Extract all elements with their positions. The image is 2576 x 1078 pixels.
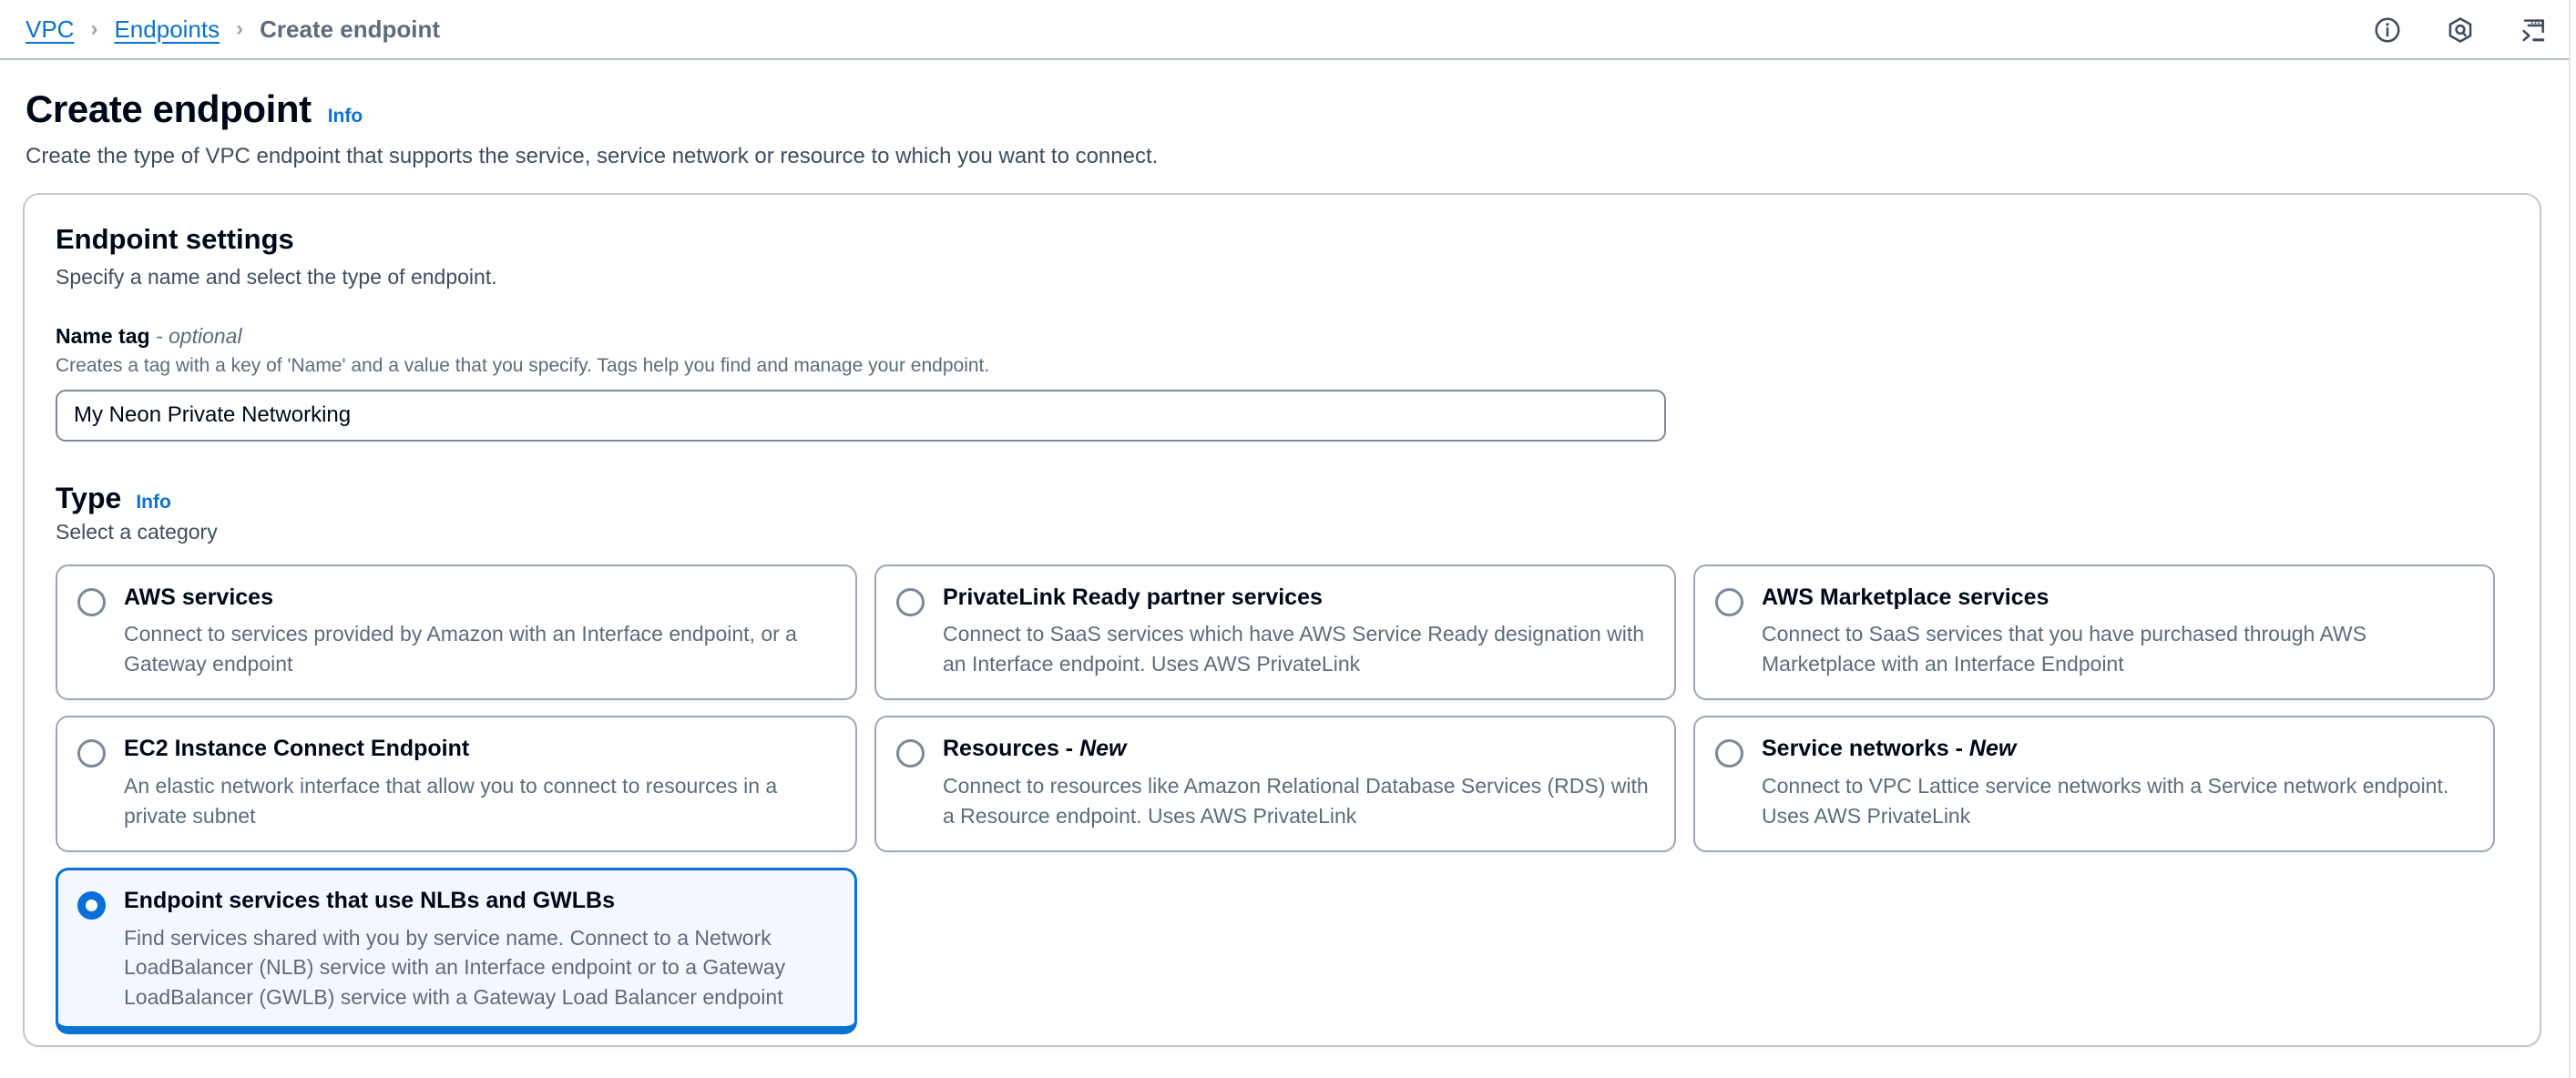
breadcrumb-item-vpc[interactable]: VPC (26, 15, 74, 44)
breadcrumb-item-create-endpoint: Create endpoint (260, 15, 440, 44)
section-description: Specify a name and select the type of en… (56, 265, 2509, 290)
name-tag-hint: Creates a tag with a key of 'Name' and a… (56, 355, 2509, 377)
card-body: Service networks - New Connect to VPC La… (1762, 736, 2473, 830)
card-description: Connect to services provided by Amazon w… (124, 619, 835, 678)
info-icon[interactable] (2372, 15, 2403, 46)
card-description: Connect to resources like Amazon Relatio… (943, 771, 1654, 830)
page-info-link[interactable]: Info (328, 106, 363, 127)
card-body: Endpoint services that use NLBs and GWLB… (124, 888, 835, 1012)
name-tag-label-text: Name tag (56, 324, 150, 348)
card-description: Connect to SaaS services that you have p… (1762, 619, 2473, 678)
card-title-text: Resources - (943, 736, 1079, 761)
cloudshell-icon[interactable] (2518, 15, 2549, 46)
breadcrumb-separator-icon: › (74, 16, 114, 42)
card-title-text: AWS services (124, 585, 273, 610)
card-title: Service networks - New (1762, 736, 2473, 763)
page-title: Create endpoint (26, 87, 312, 130)
radio-button-icon[interactable] (896, 588, 925, 616)
name-tag-input[interactable] (56, 390, 1666, 442)
page-description: Create the type of VPC endpoint that sup… (26, 142, 2550, 171)
type-option-service-networks[interactable]: Service networks - New Connect to VPC La… (1693, 716, 2495, 852)
type-option-grid: AWS services Connect to services provide… (56, 564, 2509, 1034)
aws-q-icon[interactable] (2445, 15, 2476, 46)
radio-button-icon[interactable] (77, 739, 106, 768)
top-navigation-bar: VPC › Endpoints › Create endpoint (0, 0, 2576, 60)
breadcrumb-item-endpoints[interactable]: Endpoints (114, 15, 220, 44)
radio-button-icon-selected[interactable] (77, 891, 106, 920)
topbar-icon-group (2372, 0, 2549, 60)
endpoint-settings-panel: Endpoint settings Specify a name and sel… (23, 193, 2541, 1047)
type-option-resources[interactable]: Resources - New Connect to resources lik… (874, 716, 1676, 852)
card-title-text: PrivateLink Ready partner services (943, 585, 1323, 610)
card-title: AWS services (124, 585, 835, 612)
type-description: Select a category (56, 520, 2509, 544)
card-title: EC2 Instance Connect Endpoint (124, 736, 835, 763)
card-body: AWS Marketplace services Connect to SaaS… (1762, 585, 2473, 679)
card-description: Find services shared with you by service… (124, 923, 835, 1012)
card-description: An elastic network interface that allow … (124, 771, 835, 830)
card-title-text: EC2 Instance Connect Endpoint (124, 736, 469, 761)
radio-button-icon[interactable] (1715, 739, 1743, 768)
card-title-badge: New (1969, 736, 2016, 761)
card-title: PrivateLink Ready partner services (943, 585, 1654, 612)
type-option-privatelink-ready-partner-services[interactable]: PrivateLink Ready partner services Conne… (874, 564, 1676, 701)
name-tag-label: Name tag - optional (56, 324, 2509, 349)
radio-button-icon[interactable] (896, 739, 925, 768)
type-option-ec2-instance-connect-endpoint[interactable]: EC2 Instance Connect Endpoint An elastic… (56, 716, 857, 852)
type-title: Type (56, 482, 121, 515)
radio-button-icon[interactable] (1715, 588, 1743, 616)
card-body: EC2 Instance Connect Endpoint An elastic… (124, 736, 835, 830)
card-title: Endpoint services that use NLBs and GWLB… (124, 888, 835, 915)
type-option-aws-marketplace-services[interactable]: AWS Marketplace services Connect to SaaS… (1693, 564, 2495, 701)
type-block: Type Info Select a category AWS services… (56, 482, 2509, 1034)
card-description: Connect to VPC Lattice service networks … (1762, 771, 2473, 830)
card-title-badge: New (1079, 736, 1126, 761)
card-body: Resources - New Connect to resources lik… (943, 736, 1654, 830)
card-title: AWS Marketplace services (1762, 585, 2473, 612)
type-title-row: Type Info (56, 482, 2509, 515)
type-option-endpoint-services-nlb-gwlb[interactable]: Endpoint services that use NLBs and GWLB… (56, 868, 857, 1033)
type-option-aws-services[interactable]: AWS services Connect to services provide… (56, 564, 857, 701)
card-title-text: AWS Marketplace services (1762, 585, 2049, 610)
name-tag-optional-suffix: - optional (156, 324, 242, 348)
breadcrumb: VPC › Endpoints › Create endpoint (26, 15, 440, 44)
page-header: Create endpoint Info Create the type of … (0, 60, 2576, 171)
type-info-link[interactable]: Info (136, 492, 170, 514)
card-description: Connect to SaaS services which have AWS … (943, 619, 1654, 678)
breadcrumb-separator-icon: › (220, 16, 260, 42)
page-title-row: Create endpoint Info (26, 87, 2550, 130)
card-body: AWS services Connect to services provide… (124, 585, 835, 679)
card-title-text: Service networks - (1762, 736, 1969, 761)
name-tag-field-block: Name tag - optional Creates a tag with a… (56, 324, 2509, 442)
card-title: Resources - New (943, 736, 1654, 763)
card-body: PrivateLink Ready partner services Conne… (943, 585, 1654, 679)
radio-button-icon[interactable] (77, 588, 106, 616)
page-scrollbar[interactable] (2569, 0, 2576, 1078)
section-title: Endpoint settings (56, 222, 2509, 256)
card-title-text: Endpoint services that use NLBs and GWLB… (124, 888, 615, 913)
